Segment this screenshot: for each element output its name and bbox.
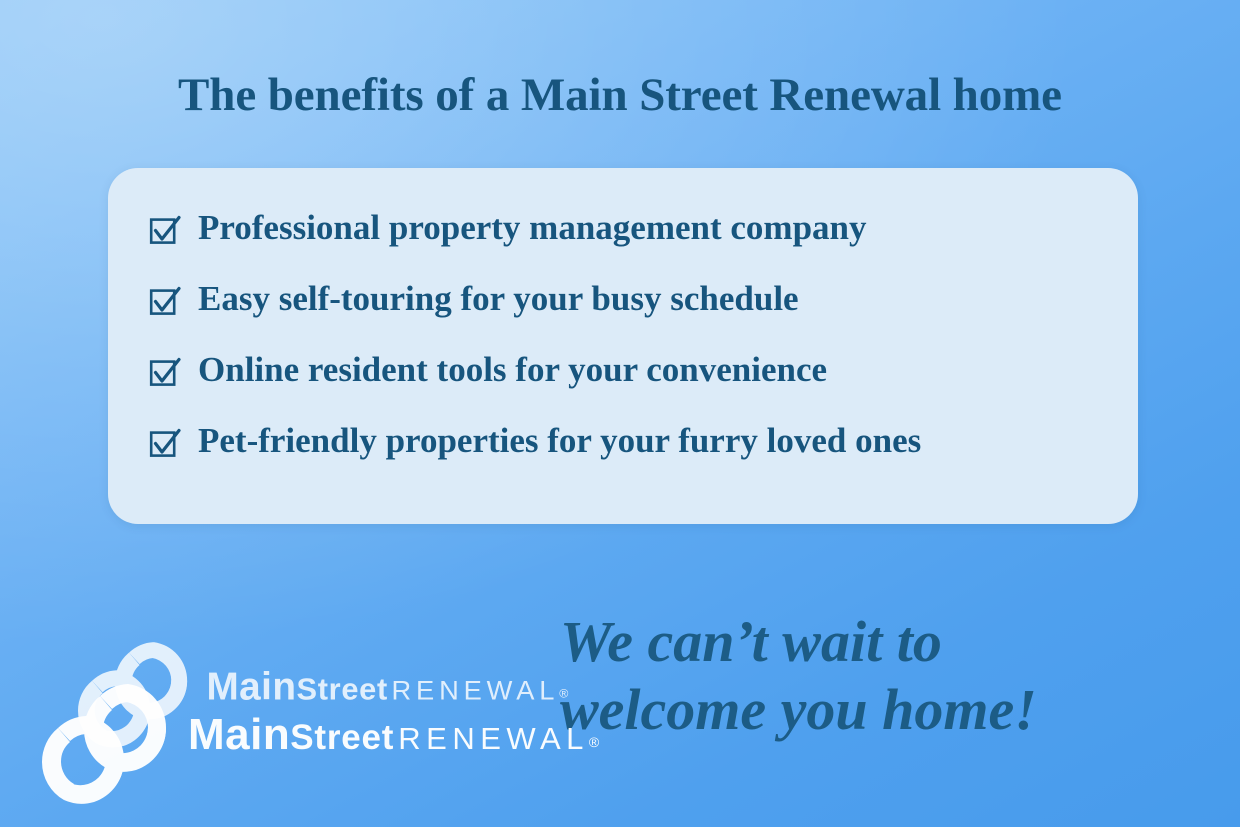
benefits-card: Professional property management company… — [108, 168, 1138, 524]
mainstreet-renewal-swirl-icon — [42, 668, 182, 808]
list-item: Easy self-touring for your busy schedule — [148, 279, 1110, 350]
tagline: We can’t wait to welcome you home! — [560, 608, 1200, 744]
benefit-label: Pet-friendly properties for your furry l… — [182, 421, 1110, 461]
list-item: Pet-friendly properties for your furry l… — [148, 421, 1110, 492]
list-item: Online resident tools for your convenien… — [148, 350, 1110, 421]
checkbox-checked-icon — [148, 213, 182, 247]
brand-word-renewal: RENEWAL — [398, 721, 589, 756]
brand-word-street: Street — [290, 718, 394, 757]
tagline-line-2: welcome you home! — [560, 676, 1200, 744]
checkbox-checked-icon — [148, 284, 182, 318]
checkbox-checked-icon — [148, 355, 182, 389]
brand-wordmark-sub: RENEWAL® — [398, 721, 599, 756]
poster-canvas: The benefits of a Main Street Renewal ho… — [0, 0, 1240, 827]
benefit-label: Online resident tools for your convenien… — [182, 350, 1110, 390]
benefit-label: Professional property management company — [182, 208, 1110, 248]
registered-mark: ® — [589, 734, 599, 750]
benefits-list: Professional property management company… — [148, 208, 1110, 492]
tagline-line-1: We can’t wait to — [560, 608, 1200, 676]
benefit-label: Easy self-touring for your busy schedule — [182, 279, 1110, 319]
brand-wordmark: MainStreet RENEWAL® — [188, 712, 599, 765]
brand-wordmark-main: MainStreet — [188, 710, 394, 759]
list-item: Professional property management company — [148, 208, 1110, 279]
page-title: The benefits of a Main Street Renewal ho… — [0, 70, 1240, 121]
checkbox-checked-icon — [148, 426, 182, 460]
brand-logo: MainStreet RENEWAL® — [42, 668, 599, 808]
brand-word-main: Main — [188, 710, 290, 759]
